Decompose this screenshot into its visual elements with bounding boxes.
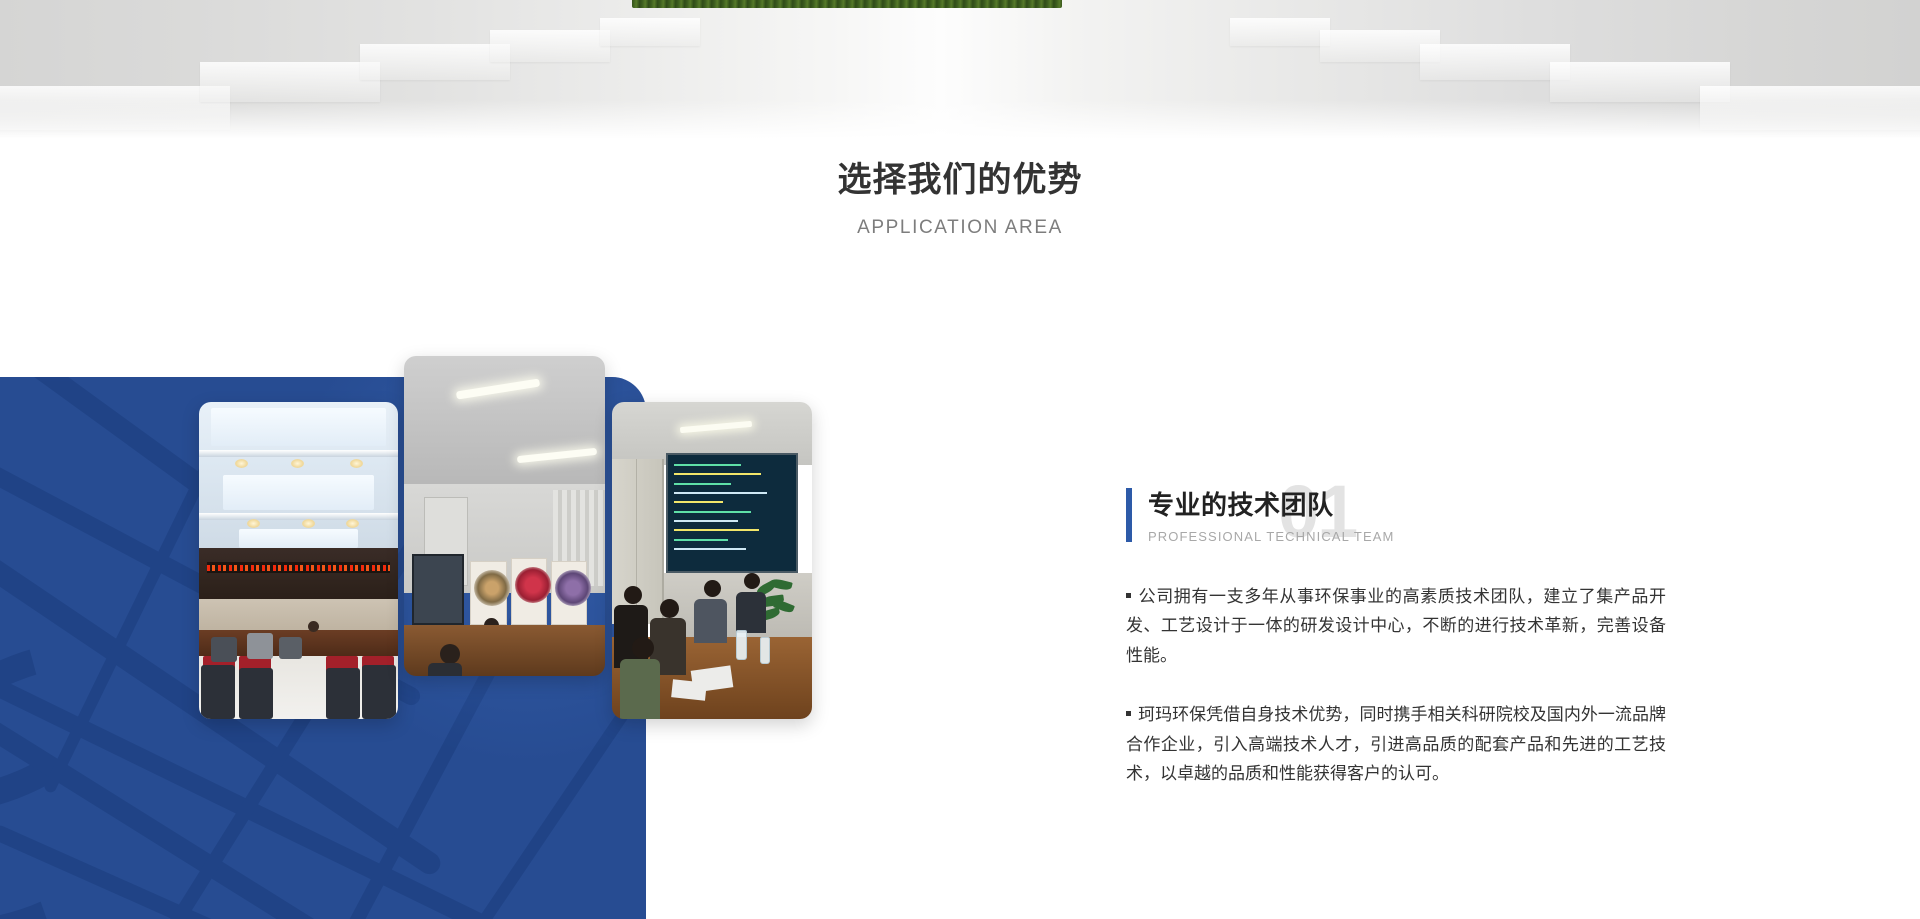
projection-screen <box>666 453 798 573</box>
advantage-subtitle: PROFESSIONAL TECHNICAL TEAM <box>1148 529 1666 544</box>
advantage-content: 01 专业的技术团队 PROFESSIONAL TECHNICAL TEAM 公… <box>1126 485 1666 788</box>
banner-grass-strip <box>632 0 1062 8</box>
banner-bottom-fade <box>0 100 1920 142</box>
page-root: 选择我们的优势 APPLICATION AREA <box>0 0 1920 919</box>
section-heading: 选择我们的优势 APPLICATION AREA <box>0 160 1920 239</box>
bullet-square-icon <box>1126 593 1131 598</box>
advantage-paragraph: 珂玛环保凭借自身技术优势，同时携手相关科研院校及国内外一流品牌合作企业，引入高端… <box>1126 700 1666 788</box>
wall-art-circle <box>515 567 551 603</box>
advantage-title: 专业的技术团队 <box>1148 485 1666 522</box>
section-subtitle: APPLICATION AREA <box>0 217 1920 239</box>
photo-training-room <box>612 402 812 719</box>
bullet-square-icon <box>1126 711 1131 716</box>
advantage-body: 公司拥有一支多年从事环保事业的高素质技术团队，建立了集产品开发、工艺设计于一体的… <box>1126 582 1666 788</box>
advantage-header: 01 专业的技术团队 PROFESSIONAL TECHNICAL TEAM <box>1126 485 1666 544</box>
photo-conference-hall <box>199 402 398 719</box>
photo-meeting-room <box>404 356 605 676</box>
accent-bar <box>1126 488 1132 542</box>
advantage-paragraph: 公司拥有一支多年从事环保事业的高素质技术团队，建立了集产品开发、工艺设计于一体的… <box>1126 582 1666 670</box>
advantage-paragraph-text: 公司拥有一支多年从事环保事业的高素质技术团队，建立了集产品开发、工艺设计于一体的… <box>1126 587 1666 665</box>
led-banner <box>207 562 390 573</box>
top-banner <box>0 0 1920 142</box>
section-title: 选择我们的优势 <box>0 160 1920 201</box>
advantage-paragraph-text: 珂玛环保凭借自身技术优势，同时携手相关科研院校及国内外一流品牌合作企业，引入高端… <box>1126 705 1666 783</box>
wall-art-circle <box>555 570 591 606</box>
